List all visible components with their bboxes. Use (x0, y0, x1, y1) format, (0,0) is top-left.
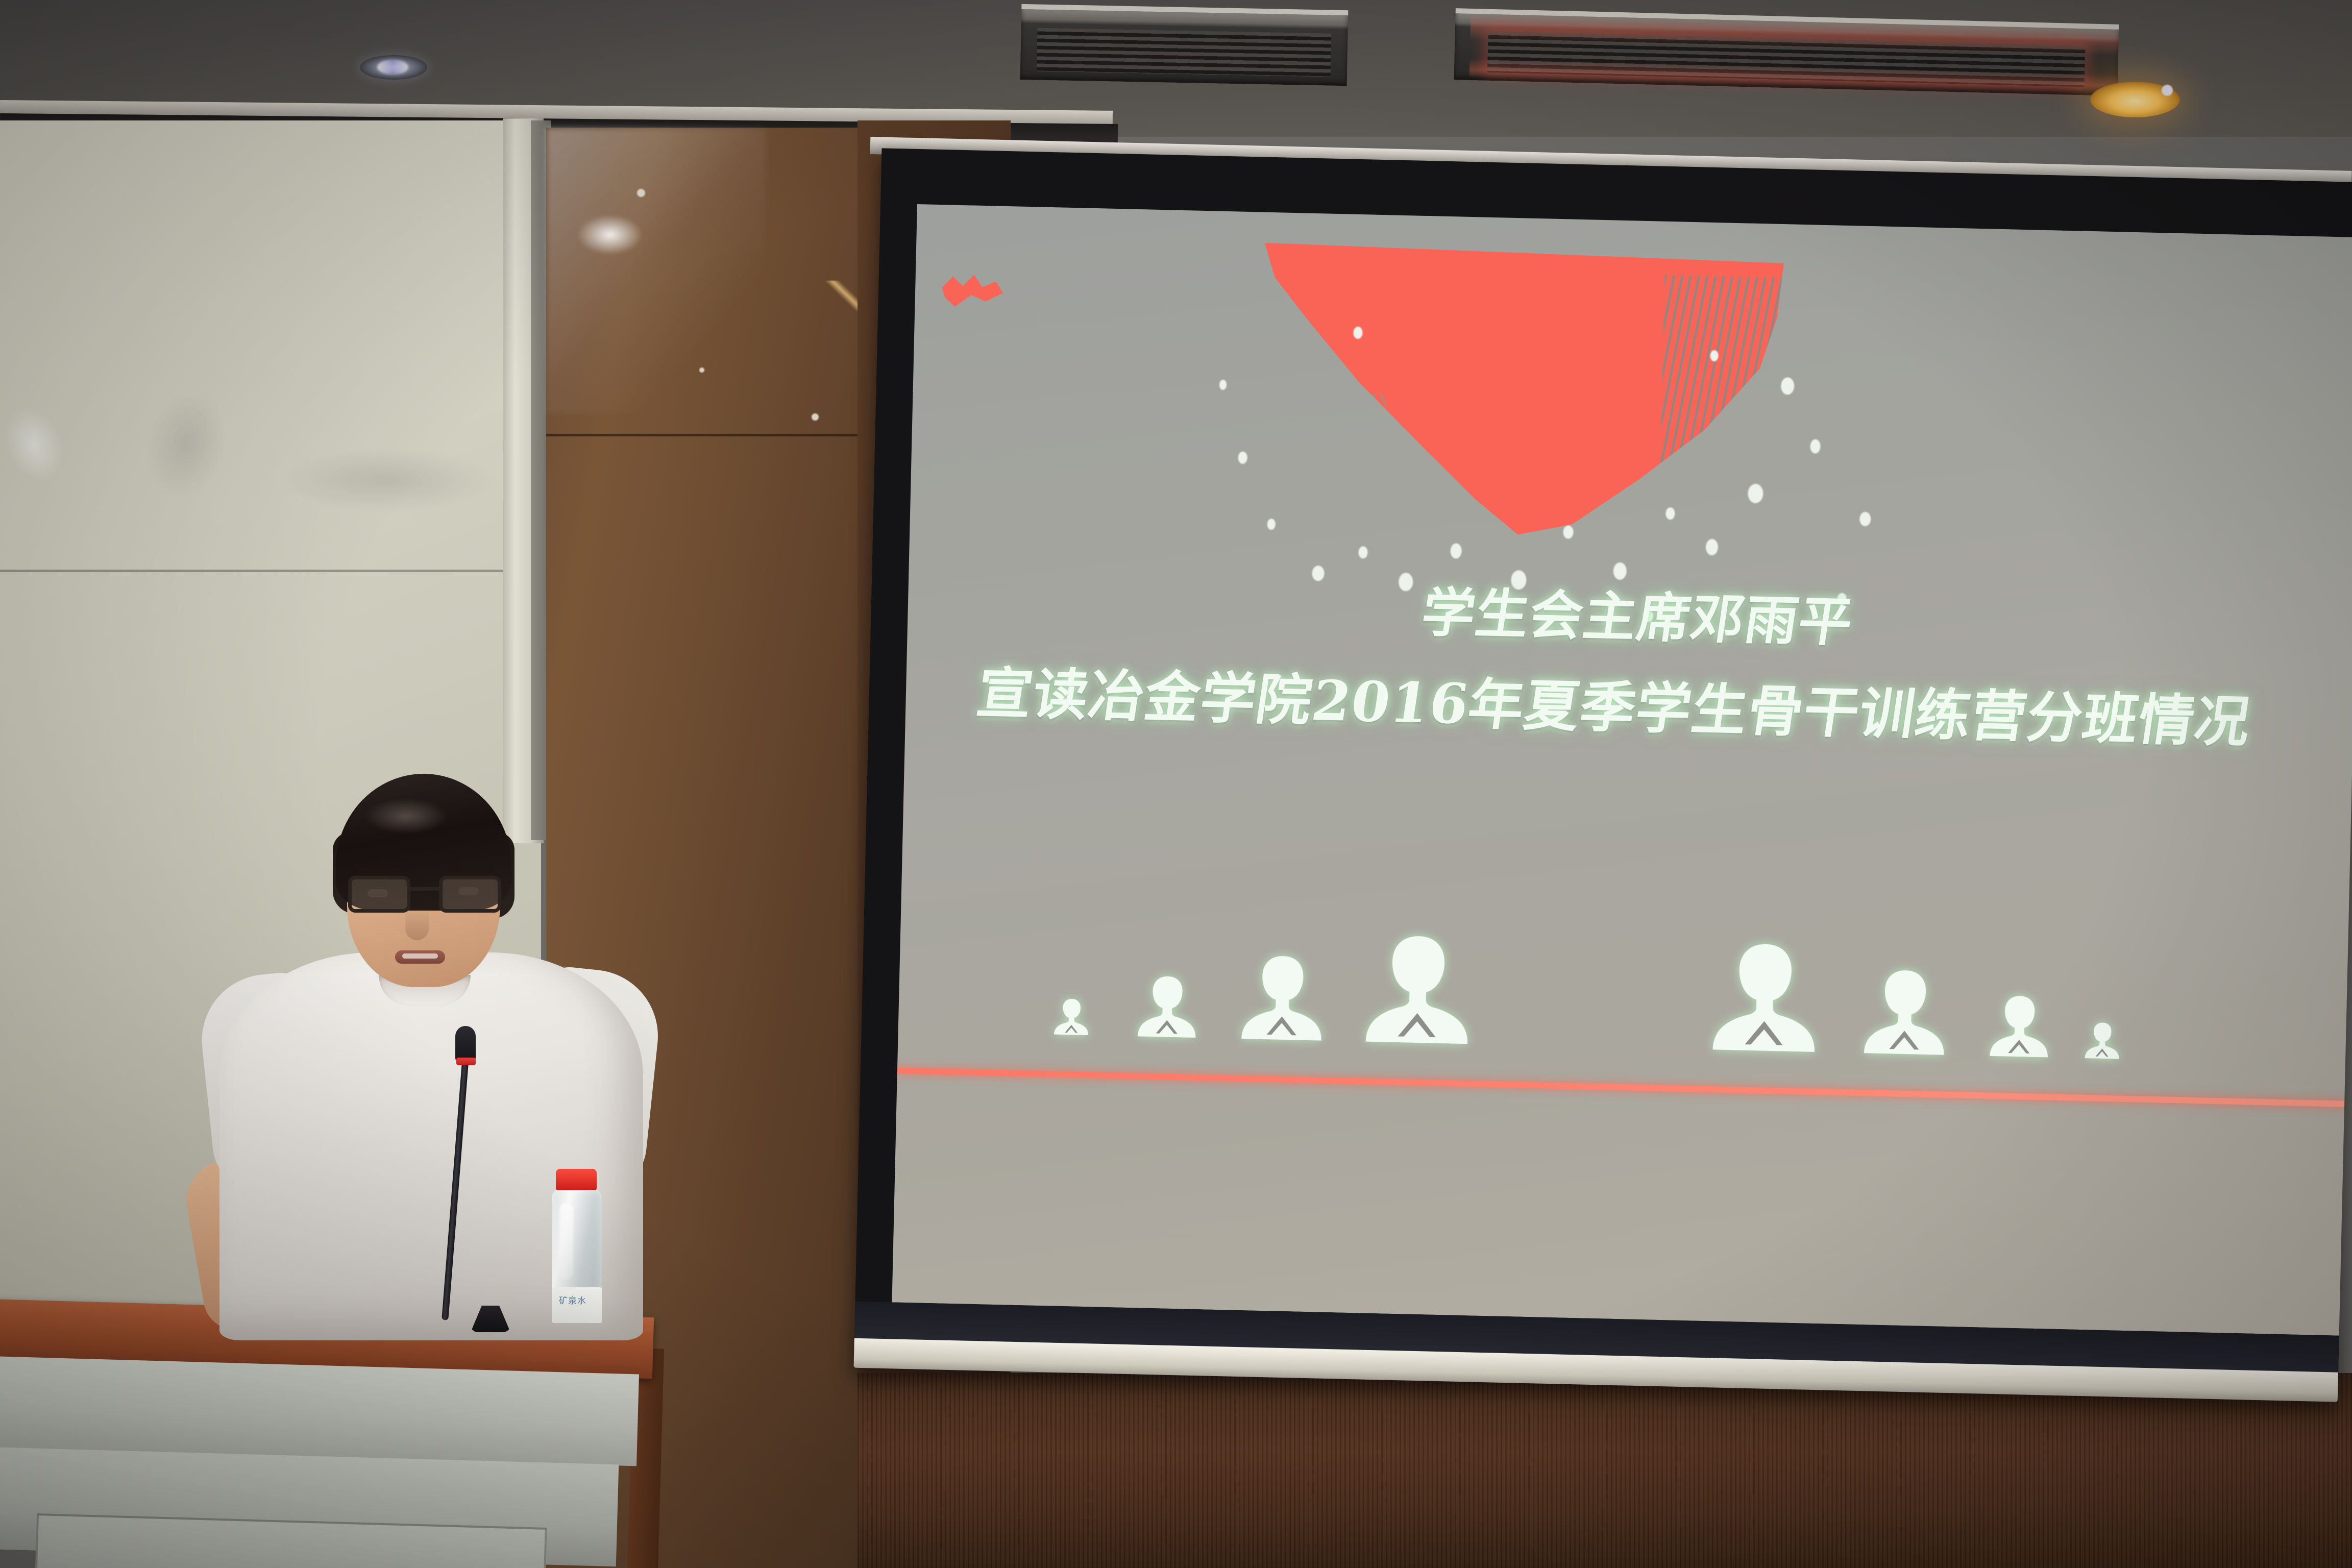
speaker-nose (405, 909, 429, 940)
glasses-lens-right (439, 876, 501, 913)
bottle-label: 矿泉水 (552, 1287, 602, 1323)
paint-droplet (1859, 512, 1871, 526)
paint-droplet (1219, 380, 1227, 390)
vent-louvers (1487, 32, 2086, 87)
slide-divider-line (897, 1067, 2345, 1107)
wall-scuff (281, 447, 495, 513)
person-bust-icon (1235, 946, 1330, 1041)
wood-speck (637, 189, 645, 197)
water-bottle[interactable]: 矿泉水 (549, 1169, 605, 1322)
wood-sheen (546, 128, 766, 413)
person-icon-row (898, 863, 2349, 1064)
microphone-status-ring (456, 1058, 476, 1065)
wood-highlight (577, 214, 643, 255)
wood-seam (546, 434, 903, 436)
person-bust-icon (1704, 931, 1825, 1052)
person-bust-icon (1051, 994, 1092, 1035)
person-bust-icon (1985, 989, 2054, 1058)
person-bust-icon (2082, 1018, 2123, 1059)
paint-droplet (1665, 507, 1675, 520)
wall-scuff (0, 399, 75, 491)
paint-droplet (1358, 546, 1368, 558)
presentation-room-photo: 学生会主席邓雨平 宣读冶金学院2016年夏季学生骨干训练营分班情况 (0, 0, 2352, 1568)
speaker-eyebrow (448, 867, 492, 872)
glasses-bridge (410, 887, 439, 891)
projected-slide: 学生会主席邓雨平 宣读冶金学院2016年夏季学生骨干训练营分班情况 (892, 204, 2352, 1336)
red-paint-splash-small (941, 274, 1003, 309)
ceiling-air-vent-left (1020, 4, 1349, 86)
wood-speck (812, 413, 819, 421)
paint-droplet (1238, 452, 1247, 464)
ceiling-warm-light-icon (2090, 82, 2180, 117)
paint-droplet (1781, 377, 1795, 395)
paint-droplet (1706, 539, 1719, 556)
paint-droplet (1450, 543, 1462, 558)
vent-louvers (1037, 28, 1332, 77)
bottle-highlight (560, 1203, 573, 1279)
person-bust-icon (1133, 969, 1202, 1038)
glasses-lens-left (348, 876, 410, 913)
paint-droplet (1810, 439, 1821, 453)
wall-seam (0, 570, 541, 572)
person-bust-icon (1357, 923, 1478, 1044)
red-paint-splash-main (1237, 242, 1784, 541)
paint-droplet (1563, 525, 1574, 538)
wall-scuff (136, 383, 236, 506)
wood-speck (699, 367, 704, 373)
wainscot-panel (857, 1373, 2352, 1568)
paint-droplet (1267, 519, 1276, 530)
gooseneck-microphone[interactable] (448, 1026, 484, 1332)
speaker-mouth (395, 950, 445, 964)
paint-droplet (1748, 484, 1763, 504)
ceiling-downlight-icon (360, 55, 427, 80)
slide-title: 学生会主席邓雨平 宣读冶金学院2016年夏季学生骨干训练营分班情况 (895, 561, 2352, 766)
bottle-cap (556, 1169, 597, 1190)
person-bust-icon (1857, 960, 1952, 1055)
speaker-eyebrow (357, 869, 401, 874)
bottle-label-text: 矿泉水 (559, 1293, 586, 1306)
projection-screen[interactable]: 学生会主席邓雨平 宣读冶金学院2016年夏季学生骨干训练营分班情况 (853, 148, 2352, 1402)
